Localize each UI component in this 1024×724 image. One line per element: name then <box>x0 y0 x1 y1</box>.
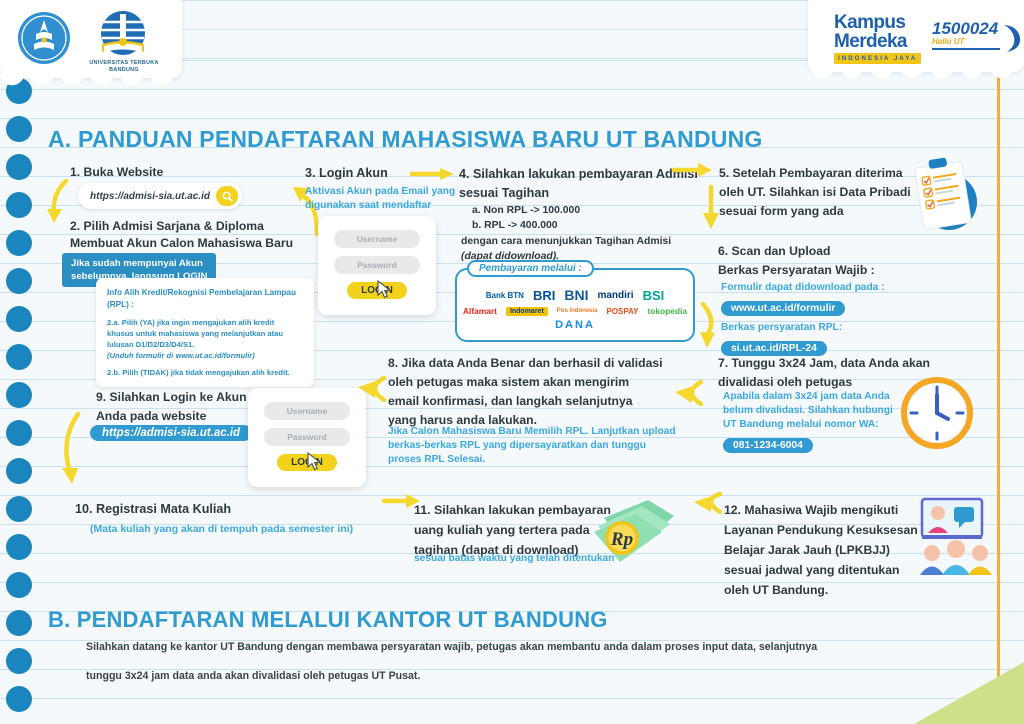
rpl-info-title: Info Alih Kredit/Rekognisi Pembelajaran … <box>107 287 303 311</box>
cursor-icon-step3 <box>377 280 393 300</box>
step-8-line2: oleh petugas maka sistem akan mengirim <box>388 373 663 392</box>
clock-icon <box>898 374 976 452</box>
phone-icon <box>998 22 1024 54</box>
step-6-link-formulir[interactable]: www.ut.ac.id/formulir <box>721 301 845 316</box>
payment-logos-row-2: Alfamart Indomaret Pos Indonesia POSPAY … <box>467 306 683 316</box>
binding-dot <box>6 496 32 522</box>
step-8-sub2: berkas-berkas RPL yang dipersayaratkan d… <box>388 439 676 453</box>
logo-bni: BNI <box>564 287 588 303</box>
step-10-subtitle: (Mata kuliah yang akan di tempuh pada se… <box>90 522 353 536</box>
step-7-line1: 7. Tunggu 3x24 Jam, data Anda akan <box>718 354 930 373</box>
arrow-step5-to-step6 <box>700 185 722 231</box>
step-4-line1: 4. Silahkan lakukan pembayaran Admisi <box>459 165 698 184</box>
rpl-info-a-line2: khusus untuk mahasiswa yang melanjutkan … <box>107 328 303 339</box>
arrow-step4-to-step5 <box>672 160 714 178</box>
step-6-line1: 6. Scan dan Upload <box>718 242 875 261</box>
step-11-subtitle: sesuai batas waktu yang telah ditentukan <box>414 552 614 566</box>
payment-methods-box: Pembayaran melalui : Bank BTN BRI BNI ma… <box>455 268 695 342</box>
rpl-info-a-line1: 2.a. Pilih (YA) jika ingin mengajukan al… <box>107 317 303 328</box>
logo-mandiri: mandiri <box>597 290 633 301</box>
logo-alfamart: Alfamart <box>463 306 497 316</box>
step-12-line3: Belajar Jarak Jauh (LPKBJJ) <box>724 540 918 560</box>
step-12-line5: oleh UT Bandung. <box>724 580 918 600</box>
step-5-line1: 5. Setelah Pembayaran diterima <box>719 164 911 183</box>
step-2-line2: Membuat Akun Calon Mahasiswa Baru <box>70 235 293 252</box>
step-11-line2: uang kuliah yang tertera pada <box>414 520 611 540</box>
binding-dot <box>6 268 32 294</box>
step-5-line3: sesuai form yang ada <box>719 202 911 221</box>
step-8-line3: email konfirmasi, dan langkah selanjutny… <box>388 392 663 411</box>
step-3-sub-line1: Aktivasi Akun pada Email yang <box>305 185 455 199</box>
logo-bsi: BSI <box>643 288 665 303</box>
step-3-subtitle: Aktivasi Akun pada Email yang digunakan … <box>305 185 455 213</box>
section-b-line2: tunggu 3x24 jam data anda akan divalidas… <box>86 662 946 691</box>
step-11-title: 11. Silahkan lakukan pembayaran uang kul… <box>414 500 611 560</box>
binding-dot <box>6 534 32 560</box>
step-12-line1: 12. Mahasiwa Wajib mengikuti <box>724 500 918 520</box>
kampus-merdeka-tagline: INDONESIA JAYA <box>834 53 921 64</box>
step-12-title: 12. Mahasiwa Wajib mengikuti Layanan Pen… <box>724 500 918 600</box>
universitas-terbuka-logo <box>92 8 154 60</box>
binding-dot <box>6 458 32 484</box>
binding-dot <box>6 154 32 180</box>
binding-dot <box>6 610 32 636</box>
step-12-line2: Layanan Pendukung Kesuksesan <box>724 520 918 540</box>
step-11-line1: 11. Silahkan lakukan pembayaran <box>414 500 611 520</box>
logo-tokopedia: tokopedia <box>647 306 687 316</box>
binding-dot <box>6 230 32 256</box>
step-6-line2: Berkas Persyaratan Wajib : <box>718 261 875 280</box>
search-icon[interactable] <box>216 186 238 206</box>
step-9-line1: 9. Silahkan Login ke Akun <box>96 388 247 407</box>
spiral-binding <box>0 78 46 724</box>
step-8-sub1: Jika Calon Mahasiswa Baru Memilih RPL. L… <box>388 425 676 439</box>
rpl-info-a-line3: lulusan D1/D2/D3/D4/S1. <box>107 339 303 350</box>
hotline-number: 1500024 <box>932 20 1000 37</box>
arrow-step11-to-step12 <box>680 490 724 518</box>
step-1-title: 1. Buka Website <box>70 164 163 181</box>
binding-dot <box>6 420 32 446</box>
logo-pospay: POSPAY <box>606 307 638 316</box>
logo-dana: DANA <box>555 319 595 331</box>
arrow-step9-to-step10 <box>56 410 86 498</box>
step-5-title: 5. Setelah Pembayaran diterima oleh UT. … <box>719 164 911 221</box>
step-4-note-line1: dengan cara menunjukkan Tagihan Admisi <box>461 234 671 249</box>
kemendikbud-logo <box>16 10 72 66</box>
ut-logo-caption: UNIVERSITAS TERBUKA BANDUNG <box>82 60 166 74</box>
step-8-line1: 8. Jika data Anda Benar dan berhasil di … <box>388 354 663 373</box>
step-7-sub3: UT Bandung melalui nomor WA: <box>723 418 893 432</box>
step-4-line2: sesuai Tagihan <box>459 184 698 203</box>
rpl-info-a-line4: (Unduh formulir di www.ut.ac.id/formulir… <box>107 350 303 361</box>
step-10-title: 10. Registrasi Mata Kuliah <box>75 501 231 518</box>
step-4-item-a: a. Non RPL -> 100.000 <box>472 203 580 218</box>
binding-dot <box>6 686 32 712</box>
step-3-username-input[interactable]: Username <box>334 230 420 248</box>
section-b-line1: Silahkan datang ke kantor UT Bandung den… <box>86 633 946 662</box>
binding-dot <box>6 572 32 598</box>
binding-dot <box>6 192 32 218</box>
step-4-item-b: b. RPL -> 400.000 <box>472 218 580 233</box>
binding-dot <box>6 116 32 142</box>
binding-dot <box>6 306 32 332</box>
step-4-title: 4. Silahkan lakukan pembayaran Admisi se… <box>459 165 698 203</box>
arrow-step3-to-step4 <box>410 166 456 182</box>
step-6-sub1: Formulir dapat didownload pada : <box>721 281 885 295</box>
step-6-sub2: Berkas persyaratan RPL: <box>721 321 885 335</box>
step-9-url[interactable]: https://admisi-sia.ut.ac.id <box>90 425 252 441</box>
step-2-rpl-info-box: Info Alih Kredit/Rekognisi Pembelajaran … <box>96 278 314 387</box>
payment-logos-row-3: DANA <box>467 319 683 331</box>
section-a-title: A. PANDUAN PENDAFTARAN MAHASISWA BARU UT… <box>48 126 762 153</box>
step-9-login-card[interactable]: Username Password LOGIN <box>248 388 366 487</box>
hotline-block: 1500024 Hallo UT <box>932 20 1024 54</box>
infographic-page: UNIVERSITAS TERBUKA BANDUNG Kampus Merde… <box>0 0 1024 724</box>
clipboard-checklist-icon <box>905 152 985 238</box>
section-b-title: B. PENDAFTARAN MELALUI KANTOR UT BANDUNG <box>48 607 608 633</box>
step-6-links: Formulir dapat didownload pada : www.ut.… <box>721 281 885 356</box>
section-b-body: Silahkan datang ke kantor UT Bandung den… <box>86 633 946 691</box>
step-12-line4: sesuai jadwal yang ditentukan <box>724 560 918 580</box>
money-rupiah-icon: Rp <box>592 492 678 566</box>
arrow-step6-to-step7 <box>698 300 722 362</box>
ut-caption-line1: UNIVERSITAS TERBUKA <box>82 60 166 67</box>
binding-dot <box>6 648 32 674</box>
hotline-label: Hallo UT <box>932 37 1000 47</box>
kampus-merdeka-line1: Kampus <box>834 14 921 32</box>
logo-bri: BRI <box>533 288 555 303</box>
step-7-sub2: belum divalidasi. Silahkan hubungi <box>723 404 893 418</box>
step-1-url-bar[interactable]: https://admisi-sia.ut.ac.id <box>78 183 242 209</box>
step-9-password-input[interactable]: Password <box>264 428 350 446</box>
online-class-people-icon <box>912 495 1008 581</box>
step-2-title: 2. Pilih Admisi Sarjana & Diploma Membua… <box>70 218 293 252</box>
step-6-title: 6. Scan dan Upload Berkas Persyaratan Wa… <box>718 242 875 280</box>
logo-pos-indonesia: Pos Indonesia <box>557 308 598 314</box>
cursor-icon-step9 <box>307 452 323 472</box>
payment-logos-row-1: Bank BTN BRI BNI mandiri BSI <box>467 287 683 303</box>
step-9-username-input[interactable]: Username <box>264 402 350 420</box>
step-7-sub1: Apabila dalam 3x24 jam data Anda <box>723 390 893 404</box>
step-7-note: Apabila dalam 3x24 jam data Anda belum d… <box>723 390 893 453</box>
kampus-merdeka-line2: Merdeka <box>834 32 921 51</box>
rpl-info-b-line1: 2.b. Pilih (TIDAK) jika tidak mengajukan… <box>107 367 303 378</box>
step-3-title: 3. Login Akun <box>305 165 388 182</box>
payment-box-label: Pembayaran melalui : <box>467 260 594 277</box>
step-3-password-input[interactable]: Password <box>334 256 420 274</box>
step-7-wa-number[interactable]: 081-1234-6004 <box>723 438 813 453</box>
step-4-amounts: a. Non RPL -> 100.000 b. RPL -> 400.000 <box>472 203 580 233</box>
orange-margin-line <box>997 62 1000 724</box>
binding-dot <box>6 344 32 370</box>
logo-bank-btn: Bank BTN <box>486 291 524 300</box>
step-3-sub-line2: digunakan saat mendaftar <box>305 199 455 213</box>
step-8-title: 8. Jika data Anda Benar dan berhasil di … <box>388 354 663 430</box>
step-2-line1: 2. Pilih Admisi Sarjana & Diploma <box>70 218 293 235</box>
kampus-merdeka-logo: Kampus Merdeka INDONESIA JAYA <box>834 14 921 64</box>
step-9-title: 9. Silahkan Login ke Akun Anda pada webs… <box>96 388 247 426</box>
step-9-url-pill-wrap: https://admisi-sia.ut.ac.id <box>90 423 252 441</box>
step-3-login-card[interactable]: Username Password LOGIN <box>318 216 436 315</box>
binding-dot <box>6 382 32 408</box>
step-8-note: Jika Calon Mahasiswa Baru Memilih RPL. L… <box>388 425 676 467</box>
step-5-line2: oleh UT. Silahkan isi Data Pribadi <box>719 183 911 202</box>
ut-caption-line2: BANDUNG <box>82 67 166 74</box>
money-symbol: Rp <box>610 529 633 550</box>
step-1-url: https://admisi-sia.ut.ac.id <box>90 191 210 202</box>
logo-indomaret: Indomaret <box>506 307 548 316</box>
step-2-tag-line1: Jika sudah mempunyai Akun <box>71 257 207 270</box>
step-8-sub3: proses RPL Selesai. <box>388 453 676 467</box>
